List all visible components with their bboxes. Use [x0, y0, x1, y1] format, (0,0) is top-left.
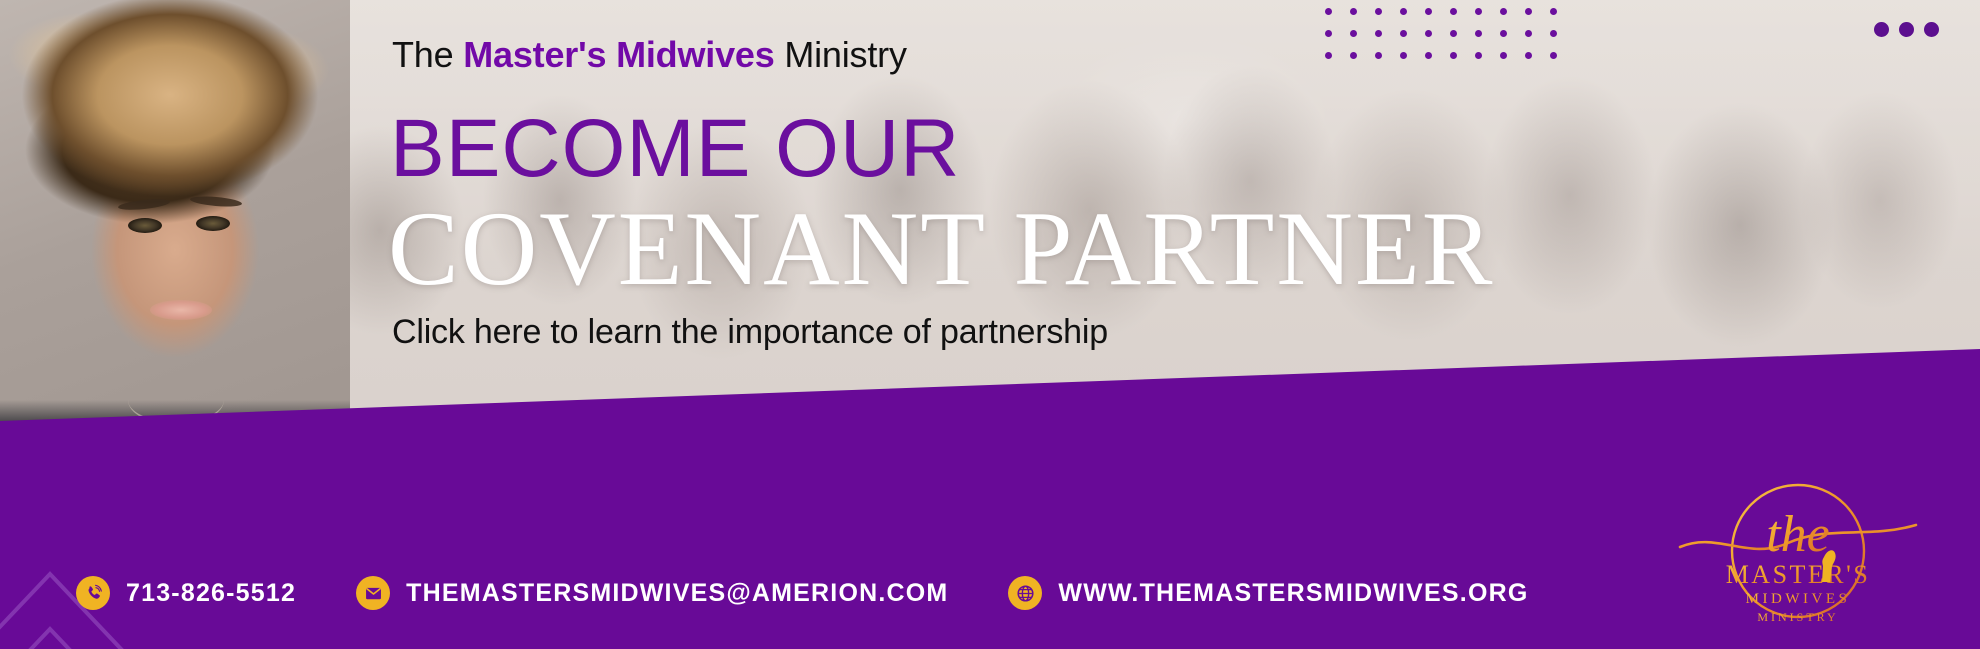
contact-email[interactable]: THEMASTERSMIDWIVES@AMERION.COM: [356, 576, 948, 610]
kicker-suffix: Ministry: [775, 34, 907, 75]
grid-dot: [1550, 30, 1557, 37]
ellipsis-icon[interactable]: [1868, 16, 1945, 43]
grid-dot: [1525, 30, 1532, 37]
email-address-label: THEMASTERSMIDWIVES@AMERION.COM: [406, 579, 948, 608]
grid-dot: [1325, 8, 1332, 15]
grid-dot: [1325, 52, 1332, 59]
grid-dot: [1350, 52, 1357, 59]
phone-number-label: 713-826-5512: [126, 579, 296, 608]
email-icon: [356, 576, 390, 610]
ministry-kicker: The Master's Midwives Ministry: [392, 34, 907, 76]
logo-line-3: MINISTRY: [1757, 610, 1838, 624]
grid-dot: [1550, 8, 1557, 15]
logo-line-1: MASTER'S: [1726, 560, 1871, 589]
ellipsis-dot: [1924, 22, 1939, 37]
grid-dot: [1475, 30, 1482, 37]
grid-dot: [1400, 52, 1407, 59]
logo-script-word: the: [1766, 506, 1830, 563]
phone-icon: [76, 576, 110, 610]
grid-dot: [1475, 8, 1482, 15]
grid-dot: [1500, 30, 1507, 37]
grid-dot: [1475, 52, 1482, 59]
portrait-eyebrow-right: [190, 195, 243, 208]
grid-dot: [1375, 8, 1382, 15]
grid-dot: [1425, 52, 1432, 59]
dot-grid-decoration: [1325, 8, 1575, 74]
kicker-prefix: The: [392, 34, 463, 75]
kicker-brand: Master's Midwives: [463, 34, 774, 75]
portrait-eyebrow-left: [118, 197, 171, 211]
grid-dot: [1525, 8, 1532, 15]
call-to-action-text[interactable]: Click here to learn the importance of pa…: [392, 313, 1108, 352]
grid-dot: [1375, 30, 1382, 37]
ellipsis-dot: [1874, 22, 1889, 37]
globe-icon: [1008, 576, 1042, 610]
website-url-label: WWW.THEMASTERSMIDWIVES.ORG: [1058, 579, 1528, 608]
grid-dot: [1525, 52, 1532, 59]
grid-dot: [1400, 30, 1407, 37]
grid-dot: [1450, 8, 1457, 15]
portrait-lips: [150, 300, 212, 320]
headline-secondary: COVENANT PARTNER: [388, 196, 1494, 302]
grid-dot: [1425, 30, 1432, 37]
portrait-eye-right: [196, 216, 230, 231]
grid-dot: [1400, 8, 1407, 15]
contact-phone[interactable]: 713-826-5512: [76, 576, 296, 610]
portrait-eye-left: [128, 218, 162, 233]
grid-dot: [1325, 30, 1332, 37]
headline-primary: BECOME OUR: [390, 108, 960, 190]
promotional-banner: The Master's Midwives Ministry BECOME OU…: [0, 0, 1980, 649]
contact-website[interactable]: WWW.THEMASTERSMIDWIVES.ORG: [1008, 576, 1528, 610]
grid-dot: [1500, 52, 1507, 59]
grid-dot: [1450, 30, 1457, 37]
ellipsis-dot: [1899, 22, 1914, 37]
grid-dot: [1425, 8, 1432, 15]
grid-dot: [1450, 52, 1457, 59]
logo-line-2: MIDWIVES: [1746, 591, 1851, 607]
grid-dot: [1500, 8, 1507, 15]
ministry-logo[interactable]: the MASTER'S MIDWIVES MINISTRY: [1678, 469, 1918, 639]
grid-dot: [1350, 8, 1357, 15]
grid-dot: [1375, 52, 1382, 59]
grid-dot: [1350, 30, 1357, 37]
grid-dot: [1550, 52, 1557, 59]
